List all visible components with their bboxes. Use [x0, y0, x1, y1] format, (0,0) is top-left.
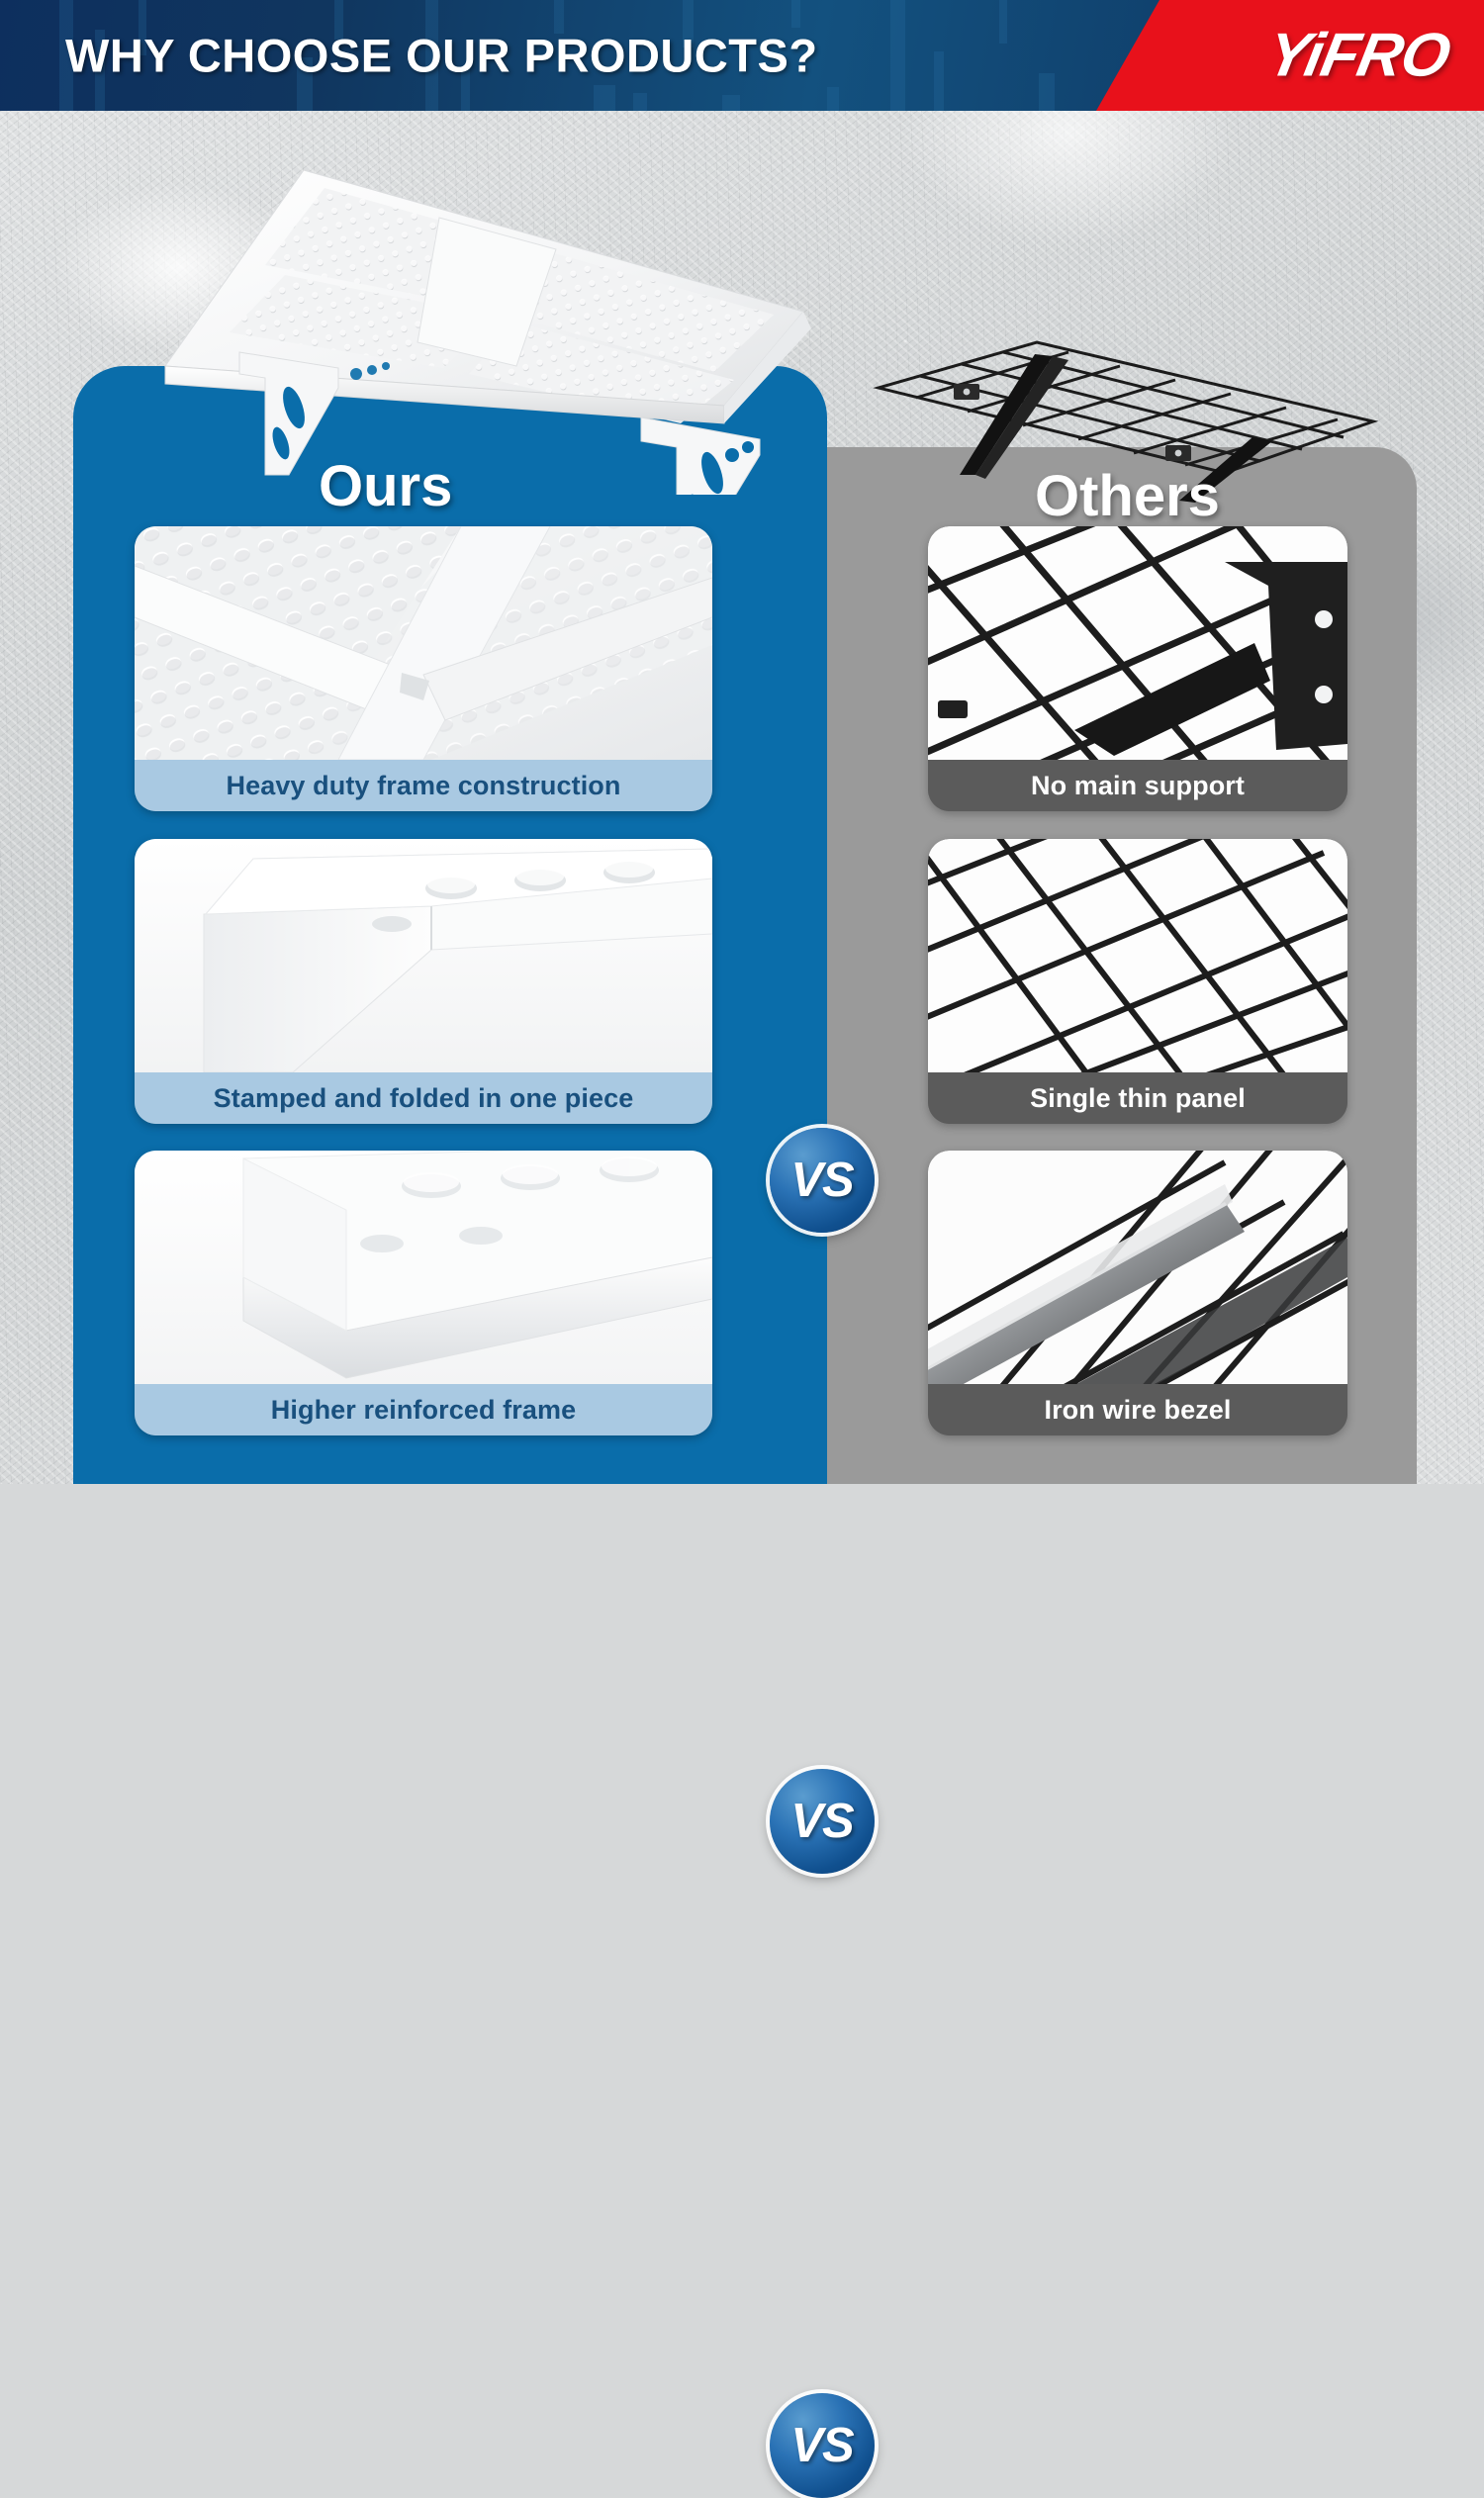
photo-heavy-duty-frame — [135, 526, 712, 760]
vs-badge-3: VS — [770, 2393, 875, 2498]
vs-label: VS — [790, 2418, 853, 2473]
column-title-ours: Ours — [319, 453, 452, 519]
photo-higher-reinforced-frame — [135, 1151, 712, 1384]
vs-badge-2: VS — [770, 1769, 875, 1874]
caption-ours-1: Heavy duty frame construction — [135, 760, 712, 811]
ours-card-3[interactable]: Higher reinforced frame — [135, 1151, 712, 1435]
vs-badge-1: VS — [770, 1128, 875, 1233]
caption-others-1: No main support — [928, 760, 1347, 811]
others-card-2[interactable]: Single thin panel — [928, 839, 1347, 1124]
hero-image-ours — [91, 158, 853, 495]
others-card-1[interactable]: No main support — [928, 526, 1347, 811]
ours-card-1[interactable]: Heavy duty frame construction — [135, 526, 712, 811]
caption-ours-2: Stamped and folded in one piece — [135, 1072, 712, 1124]
photo-iron-wire-bezel — [928, 1151, 1347, 1384]
caption-others-3: Iron wire bezel — [928, 1384, 1347, 1435]
caption-ours-3: Higher reinforced frame — [135, 1384, 712, 1435]
column-title-others: Others — [1035, 463, 1220, 529]
photo-stamped-folded — [135, 839, 712, 1072]
caption-others-2: Single thin panel — [928, 1072, 1347, 1124]
vs-label: VS — [790, 1794, 853, 1849]
vs-label: VS — [790, 1153, 853, 1208]
others-card-3[interactable]: Iron wire bezel — [928, 1151, 1347, 1435]
photo-no-main-support — [928, 526, 1347, 760]
header-banner: WHY CHOOSE OUR PRODUCTS? YiFRO — [0, 0, 1484, 111]
page-title: WHY CHOOSE OUR PRODUCTS? — [65, 29, 818, 83]
ours-card-2[interactable]: Stamped and folded in one piece — [135, 839, 712, 1124]
brand-logo: YiFRO — [1261, 21, 1455, 91]
photo-single-thin-panel — [928, 839, 1347, 1072]
